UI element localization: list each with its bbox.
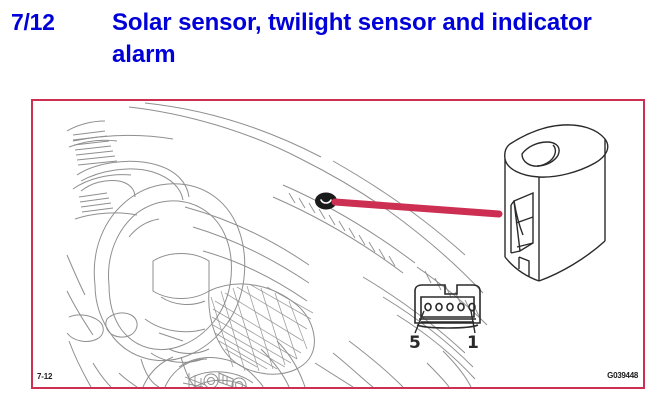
figure-code: G039448 [607,371,638,380]
figure-illustration [33,101,643,387]
dashboard-line-drawing [67,103,487,387]
sensor-module-drawing [505,125,608,281]
page-title: Solar sensor, twilight sensor and indica… [112,7,652,70]
slide-number: 7/12 [11,9,55,36]
pointer-line [335,202,499,214]
figure-frame: 5 1 7-12 G039448 [31,99,645,389]
connector-pin-label-5: 5 [409,333,421,353]
connector-pin-label-1: 1 [467,333,479,353]
slide-header: 7/12 Solar sensor, twilight sensor and i… [0,0,670,92]
figure-page-reference: 7-12 [37,372,52,381]
